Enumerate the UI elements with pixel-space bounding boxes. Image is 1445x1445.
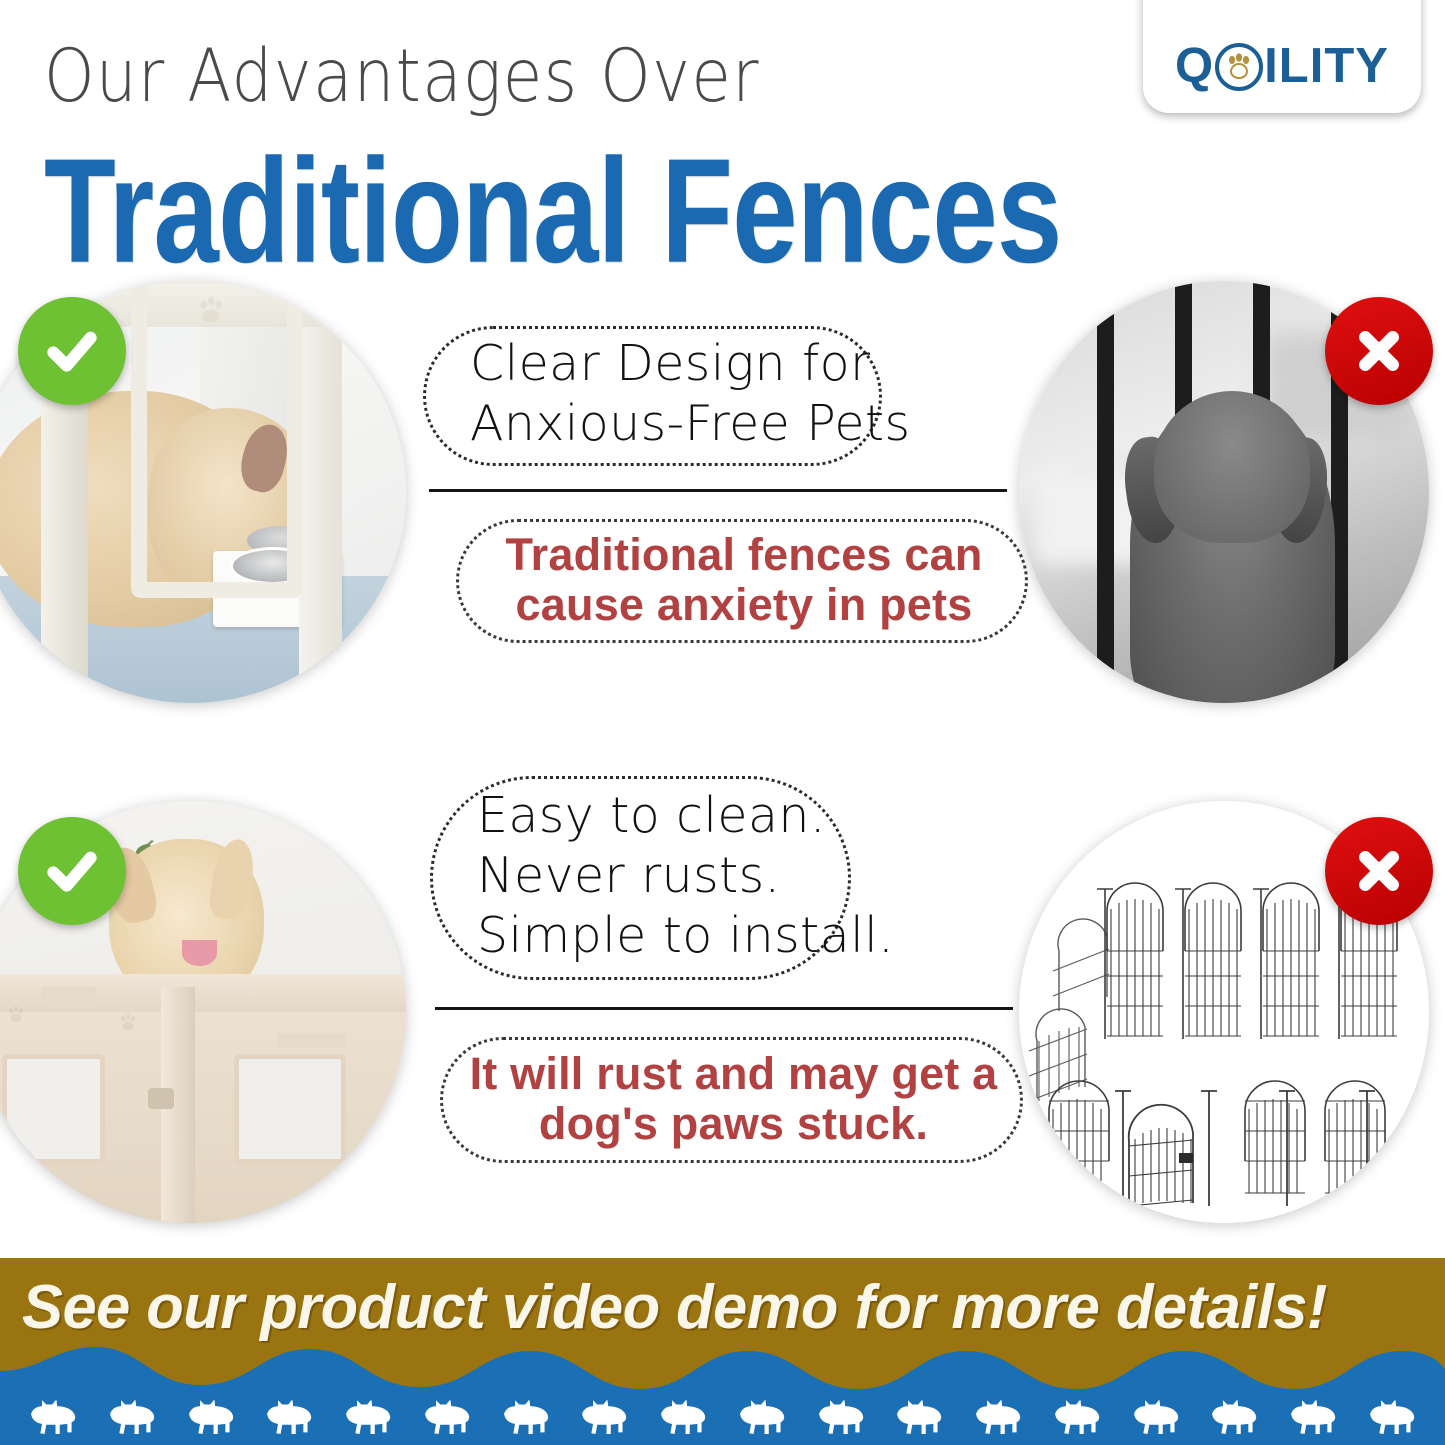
walking-cat-silhouette-icon	[262, 1395, 316, 1441]
x-glyph	[1349, 321, 1409, 381]
pro-callout-1: Clear Design for Anxious-Free Pets	[423, 326, 882, 466]
page-eyebrow: Our Advantages Over	[44, 34, 760, 119]
pen-paw-emboss-icon	[195, 294, 229, 328]
walking-cat-silhouette-icon	[184, 1395, 238, 1441]
banner-wave-decoration	[0, 1345, 1445, 1445]
pen-paw-emboss-icon	[6, 1004, 28, 1025]
walking-cat-silhouette-icon	[1050, 1395, 1104, 1441]
walking-cat-silhouette-icon	[499, 1395, 553, 1441]
con-callout-2-line-1: It will rust and may get a	[470, 1049, 998, 1099]
walking-cat-silhouette-icon	[1207, 1395, 1261, 1441]
walking-cat-silhouette-icon	[420, 1395, 474, 1441]
walking-cat-silhouette-icon	[577, 1395, 631, 1441]
con-callout-2-line-2: dog's paws stuck.	[539, 1099, 928, 1149]
pro-callout-1-line-1: Clear Design for	[470, 334, 839, 394]
paw-print-icon	[1215, 43, 1263, 91]
con-callout-1-line-1: Traditional fences can	[505, 530, 982, 580]
walking-cat-silhouette-icon	[341, 1395, 395, 1441]
page-title: Traditional Fences	[44, 125, 1061, 297]
check-glyph	[40, 319, 104, 383]
con-callout-2: It will rust and may get a dog's paws st…	[440, 1037, 1023, 1163]
brand-logo-text-before: Q	[1175, 42, 1214, 91]
con-callout-1: Traditional fences can cause anxiety in …	[456, 519, 1028, 643]
promo-banner: See our product video demo for more deta…	[0, 1258, 1445, 1445]
x-icon	[1325, 297, 1433, 405]
walking-cat-silhouette-icon	[971, 1395, 1025, 1441]
walking-cat-silhouette-icon	[105, 1395, 159, 1441]
paw-print-glyph	[1223, 51, 1255, 83]
check-glyph	[40, 839, 104, 903]
cat-silhouette-row	[0, 1383, 1445, 1441]
section-divider-1	[429, 489, 1007, 492]
infographic-page: Our Advantages Over Traditional Fences Q…	[0, 0, 1445, 1445]
walking-cat-silhouette-icon	[814, 1395, 868, 1441]
section-divider-2	[435, 1007, 1013, 1010]
check-icon	[18, 817, 126, 925]
brand-logo-wordmark: Q ILITY	[1175, 42, 1389, 91]
promo-banner-text: See our product video demo for more deta…	[22, 1272, 1414, 1343]
walking-cat-silhouette-icon	[656, 1395, 710, 1441]
pro-callout-2-line-3: Simple to install.	[477, 906, 808, 966]
pro-callout-2: Easy to clean. Never rusts. Simple to in…	[430, 776, 851, 980]
walking-cat-silhouette-icon	[1286, 1395, 1340, 1441]
pen-paw-emboss-icon	[118, 1012, 140, 1033]
check-icon	[18, 297, 126, 405]
brand-logo: Q ILITY	[1143, 0, 1421, 113]
walking-cat-silhouette-icon	[26, 1395, 80, 1441]
pro-callout-2-line-2: Never rusts.	[477, 846, 808, 906]
pro-callout-1-line-2: Anxious-Free Pets	[470, 394, 839, 454]
walking-cat-silhouette-icon	[735, 1395, 789, 1441]
x-icon	[1325, 817, 1433, 925]
x-glyph	[1349, 841, 1409, 901]
brand-logo-text-after: ILITY	[1264, 42, 1389, 91]
walking-cat-silhouette-icon	[1129, 1395, 1183, 1441]
walking-cat-silhouette-icon	[1365, 1395, 1419, 1441]
pro-callout-2-line-1: Easy to clean.	[477, 786, 808, 846]
con-callout-1-line-2: cause anxiety in pets	[516, 580, 973, 630]
walking-cat-silhouette-icon	[892, 1395, 946, 1441]
